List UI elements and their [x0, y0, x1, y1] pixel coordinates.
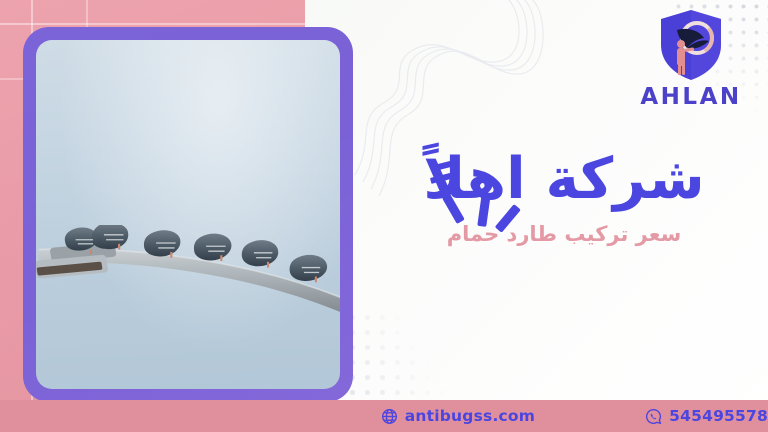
headings-block: شركة اهلاً سعر تركيب طارد حمام [384, 150, 744, 246]
promo-banner: AHLAN شركة اهلاً سعر تركيب طارد حمام ant… [0, 0, 768, 432]
phone-label: 545495578 [669, 407, 768, 425]
website-link[interactable]: antibugss.com [381, 407, 535, 425]
brand-logo: AHLAN [636, 8, 746, 110]
footer-bar: antibugss.com 545495578 [0, 400, 768, 432]
whatsapp-icon [645, 408, 662, 425]
globe-icon [381, 408, 398, 425]
pigeons-on-street-lamp-photo [36, 40, 340, 389]
page-subtitle: سعر تركيب طارد حمام [384, 222, 744, 246]
shield-person-logo-icon [655, 8, 727, 82]
photo-frame [23, 27, 353, 402]
brand-name: AHLAN [636, 84, 746, 110]
website-label: antibugss.com [405, 407, 535, 425]
page-title: شركة اهلاً [384, 150, 744, 210]
sky-background [36, 40, 340, 389]
phone-link[interactable]: 545495578 [645, 407, 768, 425]
street-lamp-pole-with-pigeons [36, 225, 340, 315]
